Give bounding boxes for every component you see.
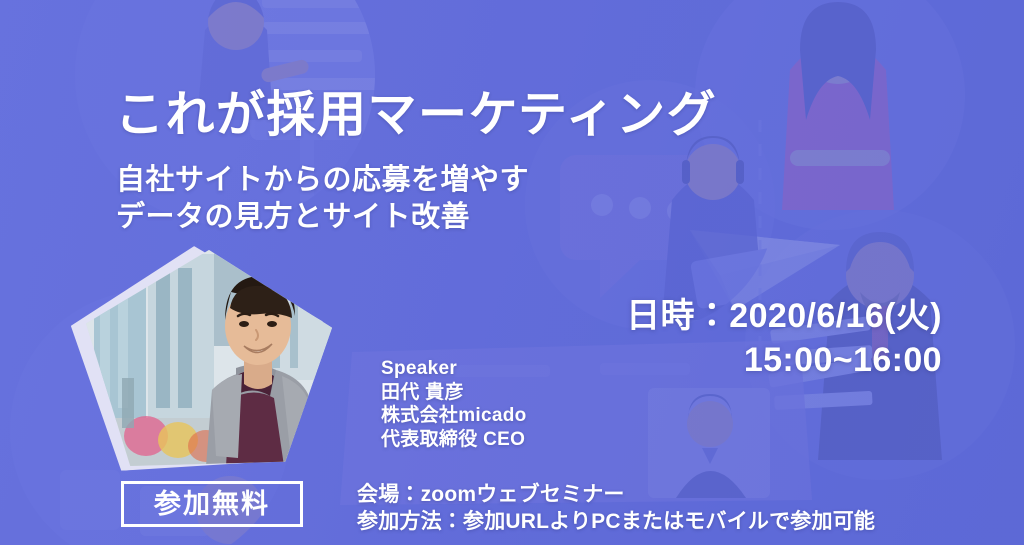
- event-info-block: 会場：zoomウェブセミナー 参加方法：参加URLよりPCまたはモバイルで参加可…: [357, 481, 875, 535]
- participation-line: 参加方法：参加URLよりPCまたはモバイルで参加可能: [357, 508, 875, 535]
- free-admission-label: 参加無料: [154, 491, 270, 518]
- photo-image: [86, 250, 332, 466]
- speaker-label: Speaker: [381, 357, 527, 381]
- speaker-company: 株式会社micado: [381, 404, 527, 428]
- speaker-block: Speaker 田代 貴彦 株式会社micado 代表取締役 CEO: [381, 357, 527, 451]
- speaker-photo: [72, 246, 336, 474]
- page-title: これが採用マーケティング: [115, 86, 717, 144]
- datetime-date: 日時：2020/6/16(火): [626, 294, 942, 338]
- free-admission-badge: 参加無料: [121, 481, 303, 527]
- datetime-time: 15:00~16:00: [626, 338, 942, 382]
- speaker-title: 代表取締役 CEO: [381, 428, 527, 452]
- speaker-name: 田代 貴彦: [381, 381, 527, 405]
- webinar-banner: これが採用マーケティング 自社サイトからの応募を増やす データの見方とサイト改善…: [0, 0, 1024, 545]
- page-subtitle: 自社サイトからの応募を増やす データの見方とサイト改善: [116, 162, 529, 236]
- photo-clip: [86, 250, 332, 466]
- datetime-block: 日時：2020/6/16(火) 15:00~16:00: [626, 294, 942, 382]
- subtitle-line-1: 自社サイトからの応募を増やす: [116, 162, 529, 199]
- subtitle-line-2: データの見方とサイト改善: [116, 199, 529, 236]
- venue-line: 会場：zoomウェブセミナー: [357, 481, 875, 508]
